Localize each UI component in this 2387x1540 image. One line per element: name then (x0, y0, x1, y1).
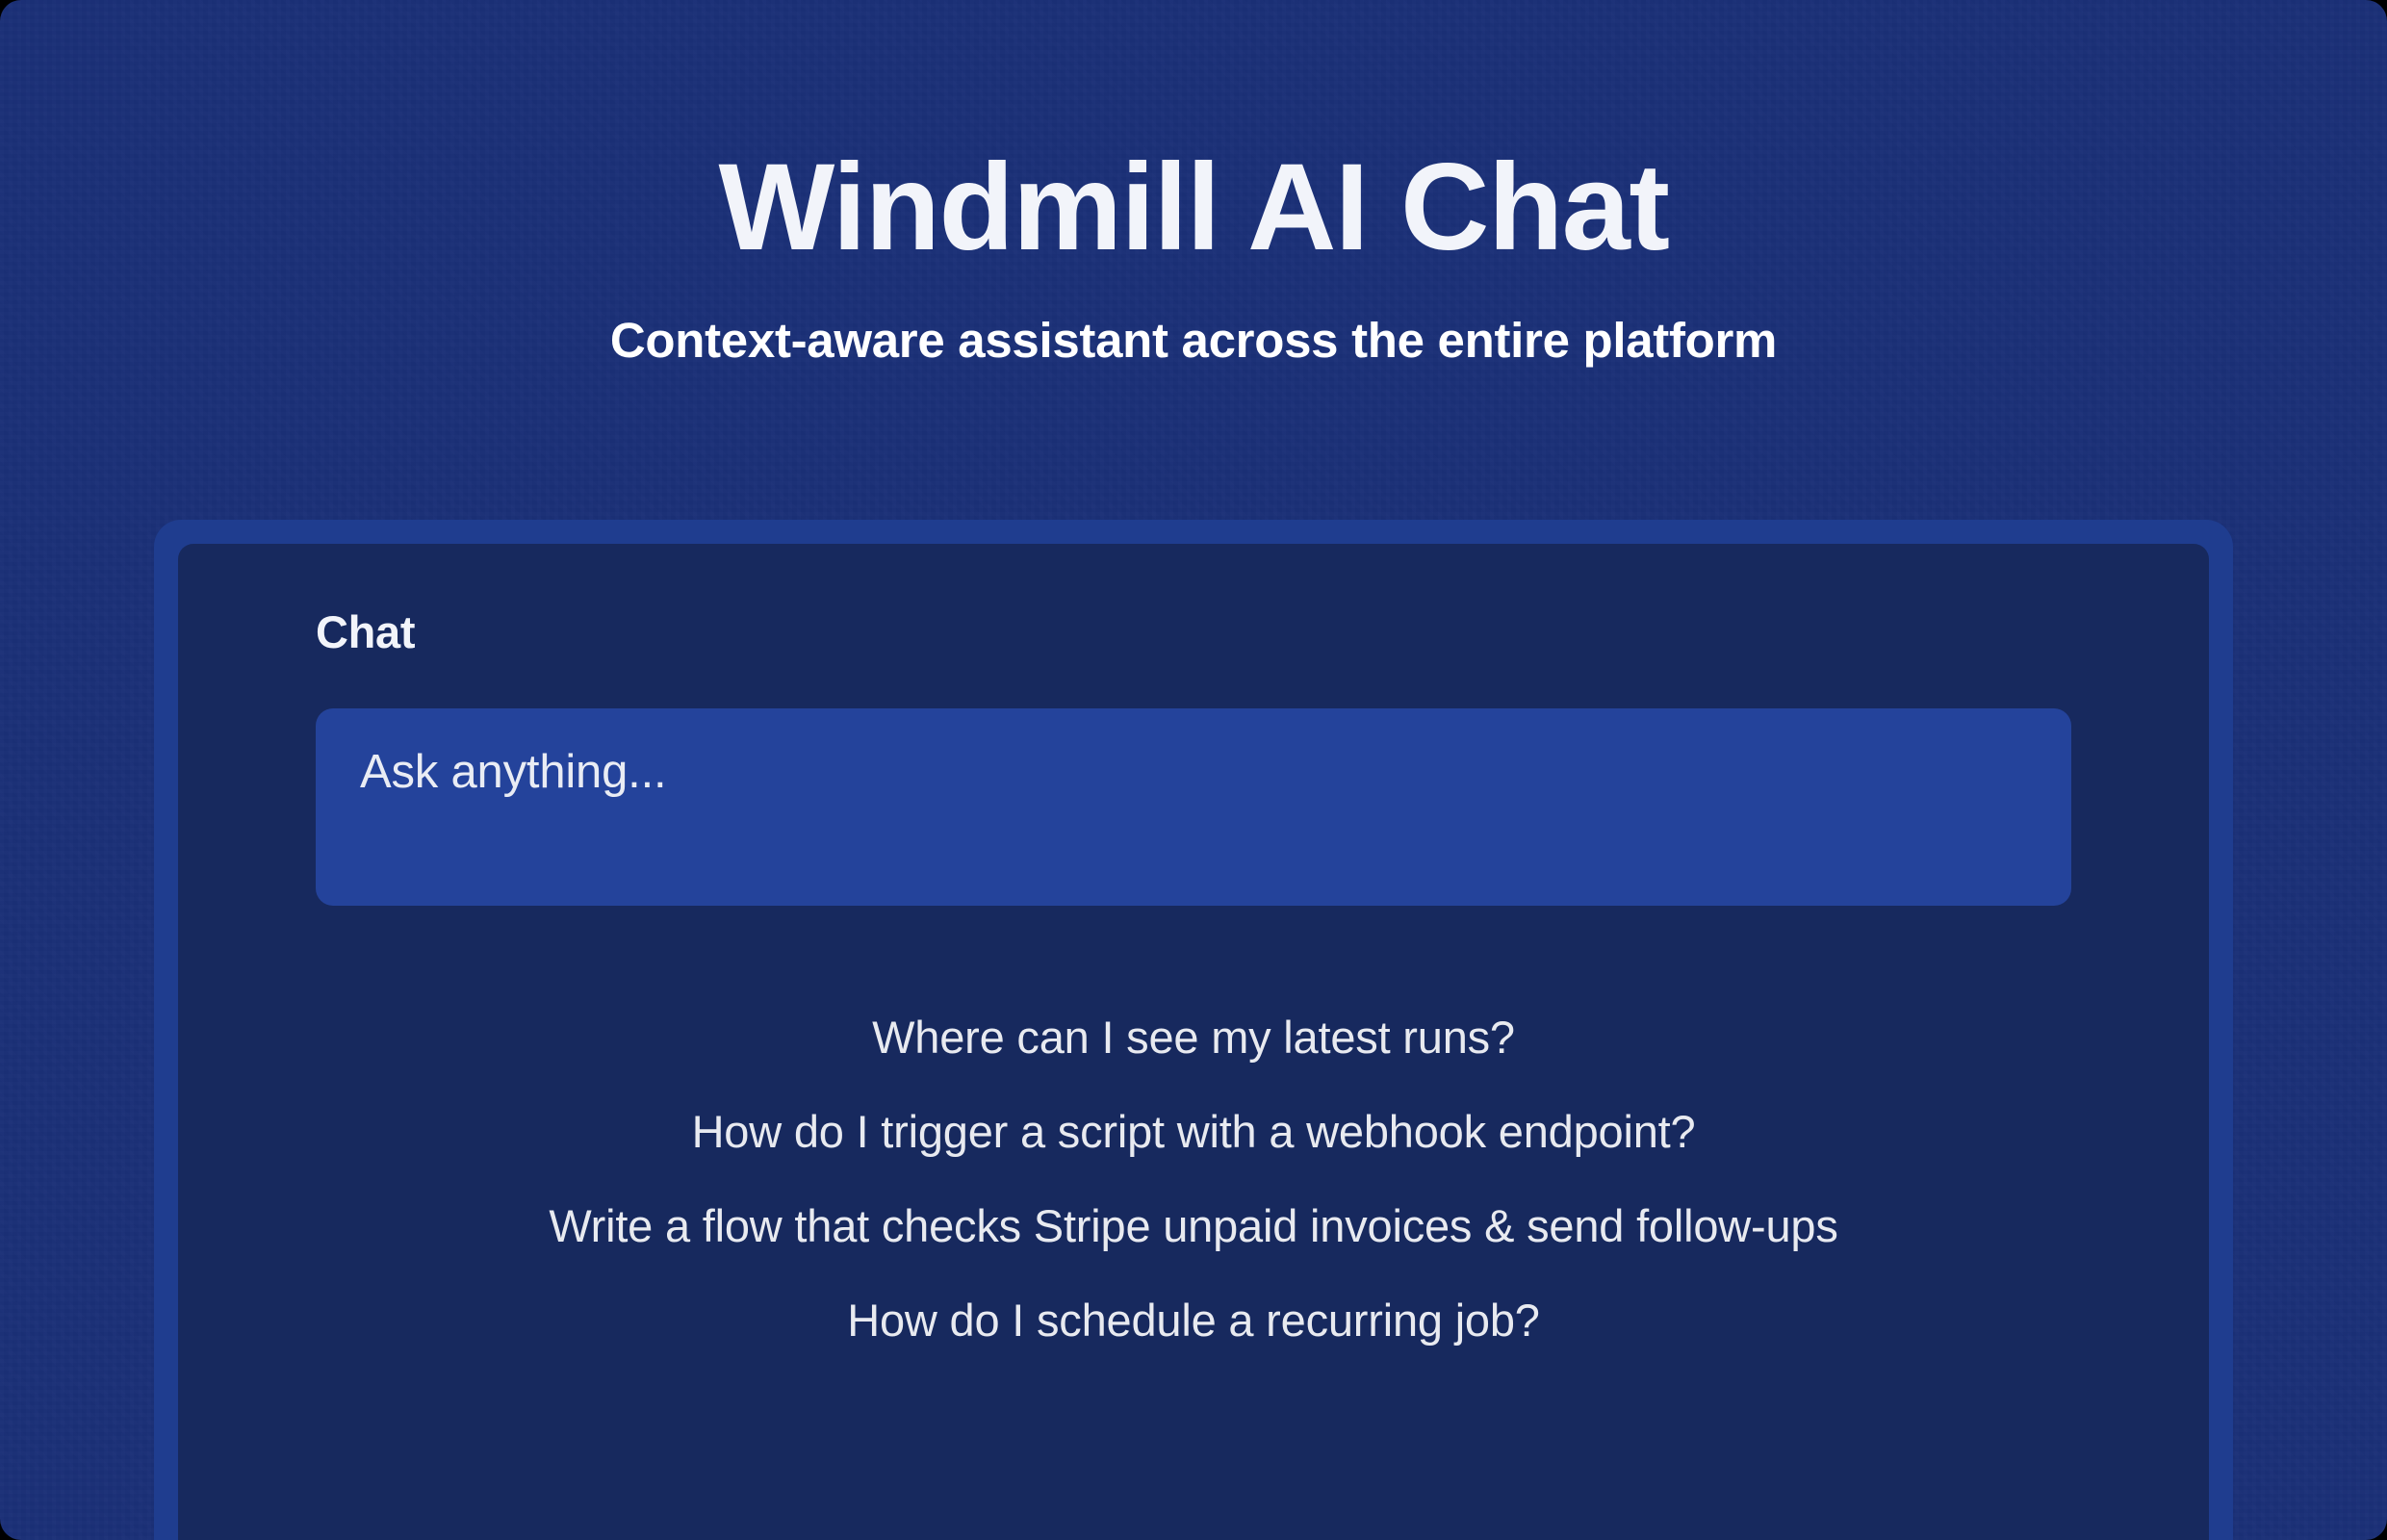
suggested-prompts-list: Where can I see my latest runs? How do I… (234, 990, 2153, 1368)
app-page: Windmill AI Chat Context-aware assistant… (0, 0, 2387, 1540)
chat-heading: Chat (234, 590, 2153, 654)
hero-header: Windmill AI Chat Context-aware assistant… (0, 0, 2387, 365)
chat-input-container[interactable] (316, 708, 2071, 906)
chat-panel: Chat Where can I see my latest runs? How… (178, 544, 2209, 1540)
chat-input[interactable] (360, 745, 2027, 799)
suggested-prompt-item[interactable]: Where can I see my latest runs? (234, 990, 2153, 1085)
chat-card: Chat Where can I see my latest runs? How… (154, 520, 2233, 1540)
page-subtitle: Context-aware assistant across the entir… (0, 269, 2387, 365)
page-title: Windmill AI Chat (0, 146, 2387, 269)
suggested-prompt-item[interactable]: Write a flow that checks Stripe unpaid i… (234, 1179, 2153, 1273)
suggested-prompt-item[interactable]: How do I trigger a script with a webhook… (234, 1085, 2153, 1179)
suggested-prompt-item[interactable]: How do I schedule a recurring job? (234, 1273, 2153, 1368)
